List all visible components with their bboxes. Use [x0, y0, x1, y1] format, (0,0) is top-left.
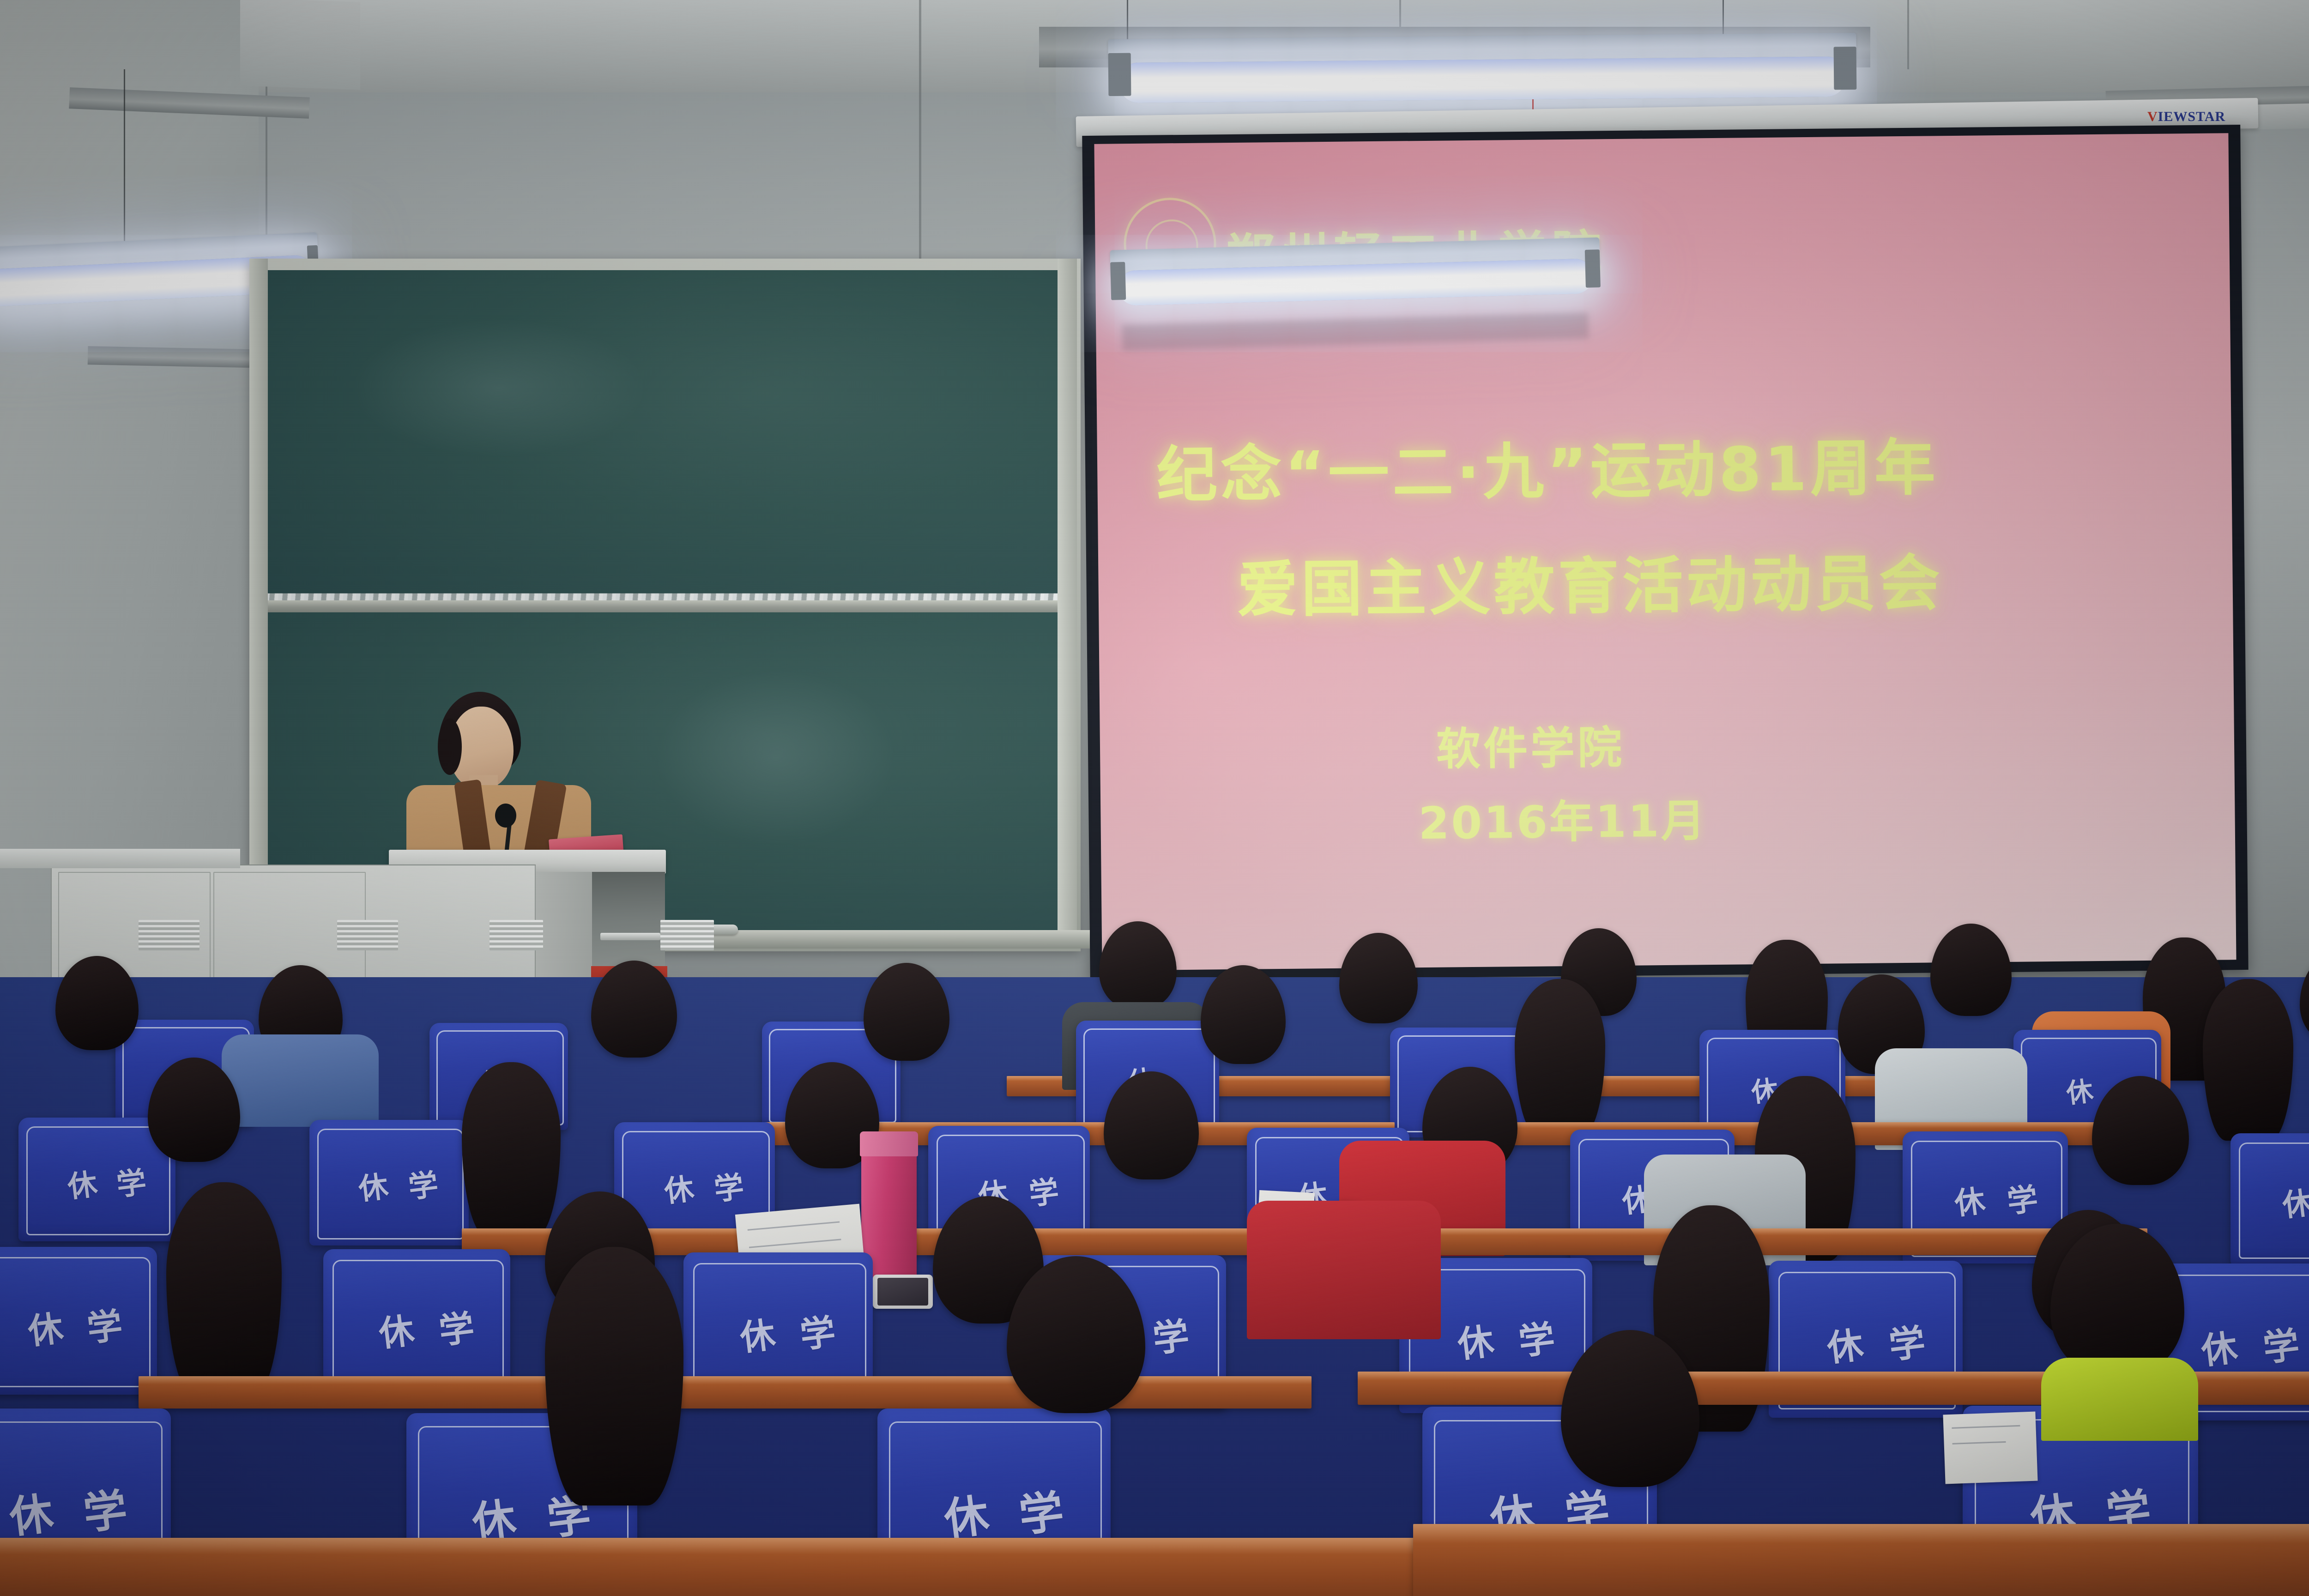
- handout-paper-right[interactable]: [1943, 1412, 2037, 1484]
- light-hanger-wire-1: [124, 69, 125, 249]
- mobile-phone[interactable]: [873, 1275, 933, 1309]
- audience-shoulder-yellow-r5: [2041, 1358, 2198, 1441]
- slide-date-line: 2016年11月: [1418, 785, 1707, 852]
- chair-glyph-r3-1a: 休: [65, 1160, 100, 1206]
- paper-right-line-1: [1952, 1425, 2020, 1429]
- cabinet-vent-2: [337, 920, 398, 950]
- chair-glyph-r4-6a: 休: [1824, 1316, 1866, 1372]
- cabinet-vent-1: [139, 920, 199, 950]
- chair-glyph-r2-5: 休: [2064, 1069, 2095, 1111]
- chalkboard-center-rail: [259, 600, 1075, 612]
- screen-brand-label: VIEWSTAR: [2147, 109, 2225, 125]
- brand-rest-letters: IEWSTAR: [2158, 109, 2225, 124]
- left-wall-panel: [0, 0, 259, 993]
- audience-head-r3-b: [462, 1062, 561, 1238]
- chair-r4-1[interactable]: 休 学: [0, 1247, 157, 1395]
- chalkboard-smudge-a: [351, 319, 647, 457]
- cabinet-vent-4: [660, 920, 714, 950]
- chair-glyph-r4-7b: 学: [2260, 1316, 2302, 1372]
- chalkboard-right-mullion: [1058, 259, 1077, 942]
- chair-r3-2[interactable]: 休 学: [309, 1120, 469, 1245]
- chair-glyph-r4-4b: 学: [1149, 1307, 1191, 1363]
- slide-org-line: 软件学院: [1436, 712, 1625, 778]
- fluorescent-fixture-over-screen: [1110, 237, 1601, 311]
- thermos-cap[interactable]: [860, 1131, 918, 1156]
- chair-glyph-r3-2b: 学: [406, 1161, 441, 1206]
- paper-right-line-2: [1952, 1441, 2006, 1445]
- paper-line-2: [749, 1239, 841, 1248]
- desk-row-foreground: [0, 1538, 1441, 1596]
- chair-glyph-r4-3b: 学: [797, 1303, 838, 1358]
- chair-glyph-r4-2b: 学: [436, 1299, 477, 1354]
- chair-glyph-r3-2a: 休: [356, 1162, 391, 1208]
- audience-head-r2-d: [1515, 979, 1605, 1136]
- speaker-hair-side: [438, 719, 462, 775]
- classroom-photo-scene: VIEWSTAR 郑州轻工业学院 纪念“一二·九”运动81周年 爱国主义教育活动…: [0, 0, 2309, 1596]
- chair-glyph-r4-6b: 学: [1886, 1313, 1928, 1369]
- cabinet-vent-3: [490, 920, 543, 950]
- chalkboard-smudge-b: [656, 670, 896, 845]
- chair-glyph-r5-1a: 休: [6, 1478, 56, 1546]
- chair-glyph-r3-4b: 学: [1027, 1167, 1061, 1213]
- chair-glyph-r3-3b: 学: [712, 1163, 746, 1209]
- slide-title-line-2: 爱国主义教育活动动员会: [1237, 534, 1944, 629]
- audience-shoulder-blue-r2: [222, 1034, 379, 1127]
- chair-glyph-r4-1a: 休: [25, 1300, 66, 1354]
- audience-head-r2-f: [2203, 979, 2293, 1141]
- chair-glyph-r5-3b: 学: [1015, 1475, 1067, 1545]
- chair-glyph-r4-5a: 休: [1454, 1312, 1496, 1368]
- wall-seam-a: [919, 0, 921, 296]
- chair-glyph-r4-7a: 休: [2198, 1319, 2240, 1375]
- chair-r3-8[interactable]: 休 学: [2230, 1133, 2309, 1265]
- fluorescent-fixture-top: [1108, 33, 1856, 109]
- chair-glyph-r3-3a: 休: [662, 1165, 696, 1210]
- brand-v-letter: V: [2147, 109, 2158, 124]
- audience-shoulder-red-r4: [1247, 1201, 1441, 1339]
- wall-seam-d: [1907, 0, 1909, 69]
- chair-glyph-r3-7a: 休: [1952, 1176, 1987, 1223]
- chair-glyph-r4-1b: 学: [84, 1297, 125, 1351]
- chair-glyph-r4-5b: 学: [1515, 1310, 1557, 1366]
- chair-glyph-r5-1b: 学: [79, 1475, 130, 1542]
- lectern-keyboard-tray[interactable]: [600, 933, 660, 940]
- microphone-head-icon: [495, 804, 516, 828]
- chair-glyph-r3-8a: 休: [2279, 1178, 2309, 1225]
- desk-row-foreground-right: [1413, 1524, 2309, 1596]
- paper-line-1: [748, 1221, 840, 1230]
- chair-glyph-r4-3a: 休: [737, 1306, 778, 1360]
- chair-glyph-r4-2a: 休: [376, 1302, 417, 1356]
- chair-glyph-r3-1b: 学: [114, 1158, 149, 1204]
- chair-glyph-r3-7b: 学: [2004, 1174, 2040, 1221]
- audience-head-r5-a: [545, 1247, 683, 1505]
- audience-head-r4-a: [166, 1182, 282, 1399]
- soffit-left: [240, 0, 360, 90]
- slide-title-line-1: 纪念“一二·九”运动81周年: [1156, 418, 1939, 514]
- chalkboard-left-mullion: [249, 259, 268, 942]
- cabinet-top-edge: [0, 849, 240, 868]
